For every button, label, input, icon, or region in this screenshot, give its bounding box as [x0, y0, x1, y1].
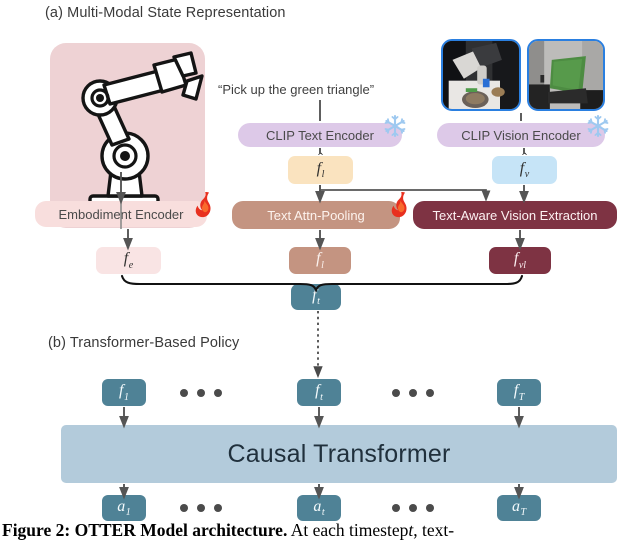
action-token-T: aT	[497, 495, 541, 521]
text-aware-vision-extraction-box[interactable]: Text-Aware Vision Extraction	[413, 201, 617, 229]
figure-caption: Figure 2: OTTER Model architecture. At e…	[2, 522, 454, 540]
f-e-symbol: fe	[124, 250, 133, 270]
snowflake-icon	[586, 114, 610, 138]
caption-body-b: , text-	[413, 520, 454, 540]
embodiment-encoder-box[interactable]: Embodiment Encoder	[35, 201, 207, 227]
a-T-symbol: aT	[512, 498, 526, 518]
action-token-t: at	[297, 495, 341, 521]
embodiment-encoder-label: Embodiment Encoder	[58, 207, 183, 222]
wrist-camera-view	[441, 39, 521, 111]
hat-f-v-symbol: ˆ fv	[520, 160, 529, 180]
a-1-symbol: a1	[117, 498, 131, 518]
caption-title: OTTER Model architecture.	[75, 520, 288, 540]
causal-transformer-label: Causal Transformer	[227, 440, 450, 469]
action-token-ellipsis-right	[392, 504, 434, 512]
f-1-symbol: f1	[119, 382, 129, 402]
language-instruction-text: “Pick up the green triangle”	[218, 82, 374, 97]
clip-vision-feature-chip: ˆ fv	[492, 156, 557, 184]
feature-token-t: ft	[297, 379, 341, 406]
embodiment-feature-chip: fe	[96, 247, 161, 274]
feature-token-1: f1	[102, 379, 146, 406]
snowflake-icon	[383, 114, 407, 138]
language-feature-chip: fl	[289, 247, 351, 274]
a-t-symbol: at	[313, 498, 324, 518]
clip-vision-encoder-box[interactable]: CLIP Vision Encoder	[437, 123, 605, 147]
f-t-symbol: ft	[312, 287, 320, 307]
section-b-title: (b) Transformer-Based Policy	[48, 335, 239, 351]
clip-text-encoder-box[interactable]: CLIP Text Encoder	[238, 123, 402, 147]
section-a-title: (a) Multi-Modal State Representation	[45, 5, 286, 21]
text-attn-pooling-box[interactable]: Text Attn-Pooling	[232, 201, 400, 229]
caption-body-a: At each timestep	[291, 520, 409, 540]
f-t-token-symbol: ft	[315, 382, 323, 402]
flame-icon	[388, 191, 412, 218]
f-l-symbol: fl	[316, 250, 324, 270]
feature-token-ellipsis-right	[392, 389, 434, 397]
third-person-camera-view	[527, 39, 605, 111]
hat-f-l-symbol: ˆ fl	[317, 160, 325, 180]
clip-text-feature-chip: ˆ fl	[288, 156, 353, 184]
action-token-1: a1	[102, 495, 146, 521]
text-attn-pooling-label: Text Attn-Pooling	[267, 208, 365, 223]
feature-token-ellipsis-left	[180, 389, 222, 397]
clip-vision-encoder-label: CLIP Vision Encoder	[461, 128, 580, 143]
text-aware-vision-extraction-label: Text-Aware Vision Extraction	[433, 208, 598, 223]
vision-language-feature-chip: fvl	[489, 247, 551, 274]
f-T-symbol: fT	[514, 382, 525, 402]
clip-text-encoder-label: CLIP Text Encoder	[266, 128, 374, 143]
otter-architecture-figure: (a) Multi-Modal State Representation	[0, 0, 640, 549]
action-token-ellipsis-left	[180, 504, 222, 512]
fused-feature-chip: ft	[291, 284, 341, 310]
feature-token-T: fT	[497, 379, 541, 406]
f-vl-symbol: fvl	[514, 250, 526, 270]
causal-transformer-block[interactable]: Causal Transformer	[61, 425, 617, 483]
flame-icon	[192, 191, 216, 218]
caption-figure-number: Figure 2:	[2, 520, 70, 540]
